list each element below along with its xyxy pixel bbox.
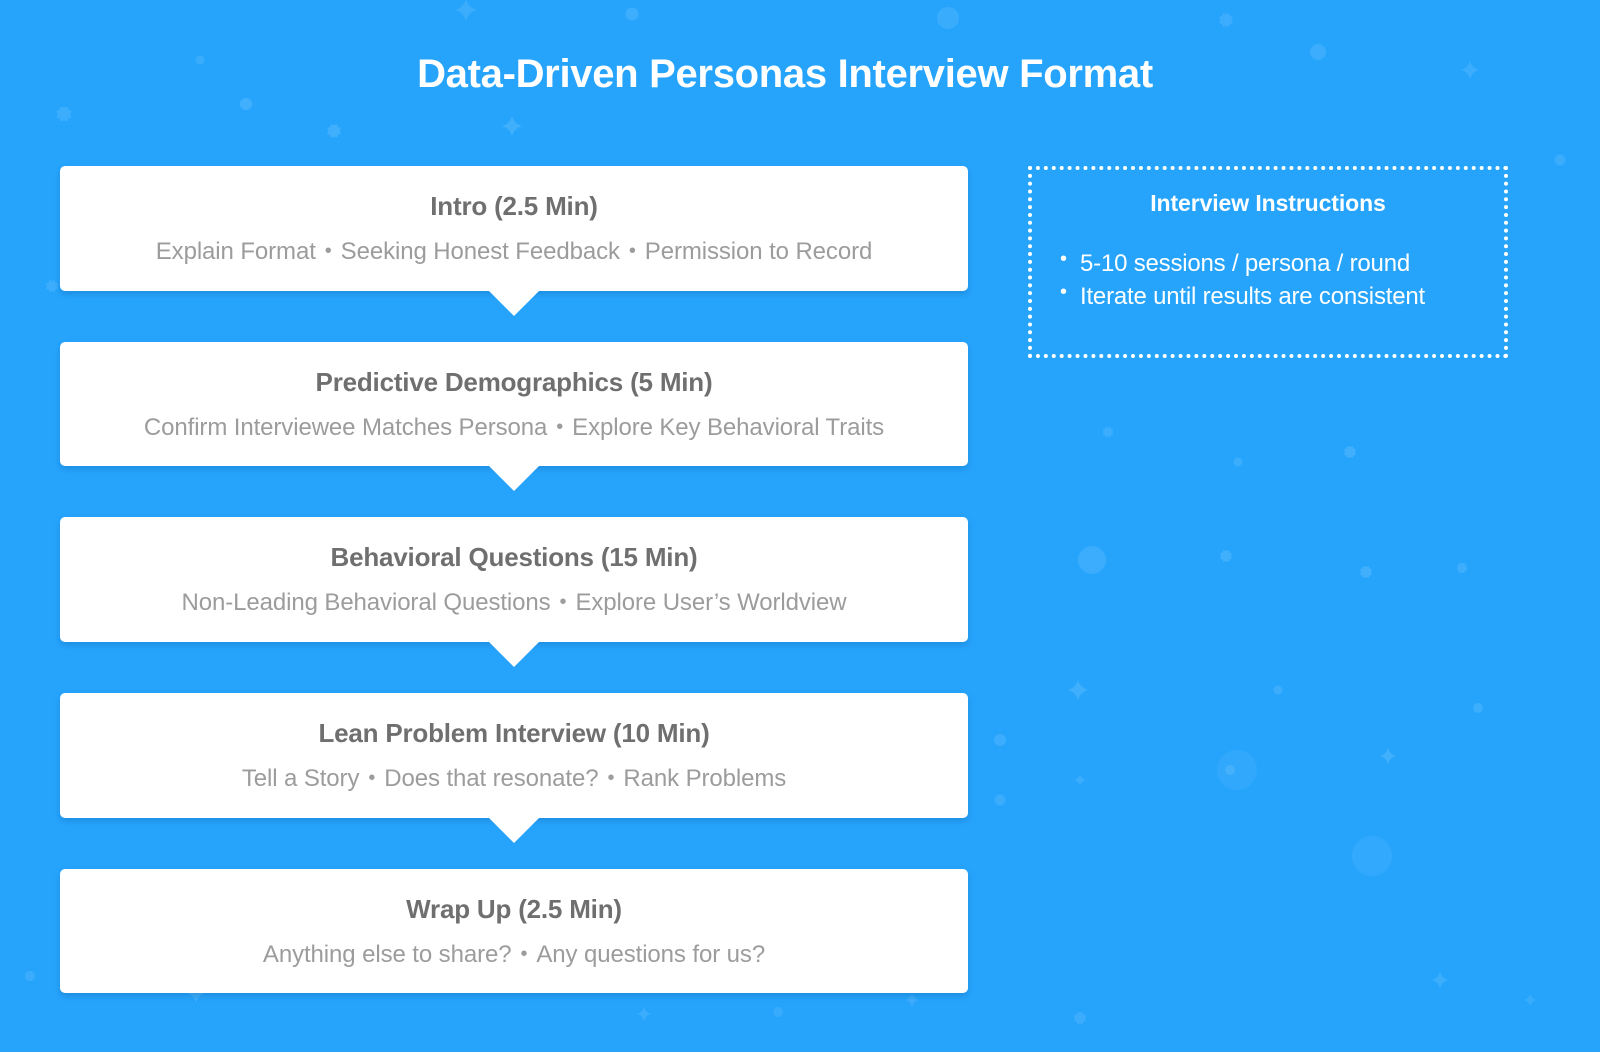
step-item: Rank Problems bbox=[623, 765, 786, 792]
instruction-item: 5-10 sessions / persona / round bbox=[1080, 247, 1478, 280]
decor-sparkle-icon bbox=[455, 0, 477, 21]
step-card[interactable]: Wrap Up (2.5 Min)Anything else to share?… bbox=[60, 869, 968, 994]
decor-circle-icon bbox=[1078, 546, 1106, 574]
bullet-separator-icon: • bbox=[511, 942, 536, 966]
step-item: Permission to Record bbox=[645, 238, 872, 265]
decor-circle-icon bbox=[1352, 836, 1392, 876]
decor-rosette-icon bbox=[57, 107, 72, 122]
step-item: Seeking Honest Feedback bbox=[341, 238, 620, 265]
bullet-separator-icon: • bbox=[551, 590, 576, 614]
decor-rosette-icon bbox=[327, 124, 340, 137]
decor-circle-icon bbox=[937, 7, 959, 29]
decor-sparkle-icon bbox=[905, 993, 919, 1007]
step-card[interactable]: Intro (2.5 Min)Explain Format•Seeking Ho… bbox=[60, 166, 968, 291]
step-subtitle: Explain Format•Seeking Honest Feedback•P… bbox=[80, 238, 948, 267]
decor-circle-icon bbox=[626, 8, 639, 21]
decor-sparkle-icon bbox=[1380, 748, 1396, 764]
step-title: Wrap Up (2.5 Min) bbox=[80, 895, 948, 925]
instruction-item: Iterate until results are consistent bbox=[1080, 280, 1478, 313]
step-item: Confirm Interviewee Matches Persona bbox=[144, 414, 547, 441]
decor-circle-icon bbox=[994, 734, 1006, 746]
step-item: Non-Leading Behavioral Questions bbox=[182, 589, 551, 616]
step-card[interactable]: Behavioral Questions (15 Min)Non-Leading… bbox=[60, 517, 968, 642]
step-subtitle: Non-Leading Behavioral Questions•Explore… bbox=[80, 589, 948, 618]
step-item: Tell a Story bbox=[242, 765, 360, 792]
step-card[interactable]: Lean Problem Interview (10 Min)Tell a St… bbox=[60, 693, 968, 818]
step-item: Does that resonate? bbox=[384, 765, 598, 792]
bullet-separator-icon: • bbox=[547, 415, 572, 439]
decor-sparkle-icon bbox=[1068, 680, 1088, 700]
step-subtitle: Tell a Story•Does that resonate?•Rank Pr… bbox=[80, 765, 948, 794]
decor-sparkle-icon bbox=[1432, 972, 1448, 988]
decor-circle-icon bbox=[240, 98, 252, 110]
flow-connector-arrow-icon bbox=[489, 818, 539, 843]
step-title: Behavioral Questions (15 Min) bbox=[80, 543, 948, 573]
interview-instructions-panel: Interview Instructions 5-10 sessions / p… bbox=[1028, 166, 1508, 358]
decor-rosette-icon bbox=[1103, 427, 1113, 437]
instructions-title: Interview Instructions bbox=[1058, 190, 1478, 217]
step-item: Explain Format bbox=[156, 238, 316, 265]
step-title: Predictive Demographics (5 Min) bbox=[80, 368, 948, 398]
bullet-separator-icon: • bbox=[599, 766, 624, 790]
decor-rosette-icon bbox=[1074, 1012, 1086, 1024]
bullet-separator-icon: • bbox=[620, 239, 645, 263]
decor-circle-icon bbox=[25, 971, 35, 981]
decor-circle-icon bbox=[1217, 750, 1257, 790]
decor-rosette-icon bbox=[46, 280, 58, 292]
flow-connector-arrow-icon bbox=[489, 291, 539, 316]
decor-sparkle-icon bbox=[502, 116, 522, 136]
decor-circle-icon bbox=[1457, 563, 1467, 573]
step-subtitle: Anything else to share?•Any questions fo… bbox=[80, 941, 948, 970]
flow-connector-arrow-icon bbox=[489, 642, 539, 667]
step-card[interactable]: Predictive Demographics (5 Min)Confirm I… bbox=[60, 342, 968, 467]
decor-sparkle-icon bbox=[637, 1007, 651, 1021]
step-title: Intro (2.5 Min) bbox=[80, 192, 948, 222]
decor-circle-icon bbox=[1274, 686, 1283, 695]
flow-connector-arrow-icon bbox=[489, 466, 539, 491]
step-subtitle: Confirm Interviewee Matches Persona•Expl… bbox=[80, 414, 948, 443]
decor-rosette-icon bbox=[1219, 13, 1232, 26]
step-item: Any questions for us? bbox=[536, 941, 765, 968]
decor-sparkle-icon bbox=[1074, 774, 1086, 786]
decor-rosette-icon bbox=[1234, 458, 1243, 467]
decor-circle-icon bbox=[1555, 155, 1566, 166]
bullet-separator-icon: • bbox=[359, 766, 384, 790]
decor-rosette-icon bbox=[1360, 566, 1372, 578]
step-item: Explore Key Behavioral Traits bbox=[572, 414, 884, 441]
decor-circle-icon bbox=[995, 795, 1006, 806]
decor-circle-icon bbox=[773, 1007, 783, 1017]
bullet-separator-icon: • bbox=[316, 239, 341, 263]
step-item: Anything else to share? bbox=[263, 941, 512, 968]
decor-rosette-icon bbox=[1220, 550, 1232, 562]
page-title: Data-Driven Personas Interview Format bbox=[0, 52, 1570, 97]
decor-circle-icon bbox=[1473, 703, 1483, 713]
step-title: Lean Problem Interview (10 Min) bbox=[80, 719, 948, 749]
decor-circle-icon bbox=[1225, 765, 1235, 775]
interview-flow: Intro (2.5 Min)Explain Format•Seeking Ho… bbox=[60, 166, 968, 993]
decor-rosette-icon bbox=[1344, 446, 1356, 458]
decor-sparkle-icon bbox=[1524, 994, 1536, 1006]
step-item: Explore User’s Worldview bbox=[575, 589, 846, 616]
instructions-list: 5-10 sessions / persona / roundIterate u… bbox=[1058, 247, 1478, 313]
